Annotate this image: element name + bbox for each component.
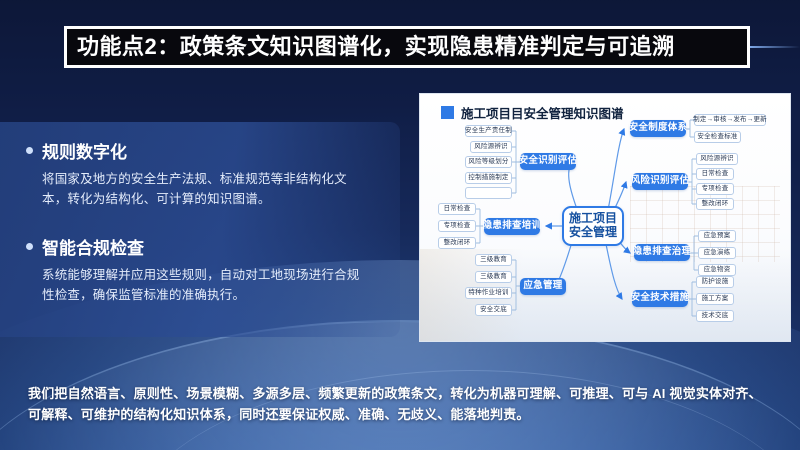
- graph-leaf[interactable]: 整改闭环: [696, 198, 734, 210]
- graph-leaf[interactable]: 专项检查: [438, 220, 476, 232]
- graph-branch-safety-system[interactable]: 安全制度体系: [630, 120, 686, 137]
- graph-leaf[interactable]: 风险源辨识: [696, 153, 738, 165]
- graph-leaf[interactable]: 技术交底: [696, 310, 734, 322]
- diagram-title-text: 施工项目目安全管理知识图谱: [461, 103, 624, 122]
- slide-root: 功能点2：政策条文知识图谱化，实现隐患精准判定与可追溯 规则数字化 将国家及地方…: [0, 0, 800, 450]
- feature-heading-row: 规则数字化: [26, 138, 372, 163]
- graph-leaf[interactable]: 风险等级划分: [465, 156, 512, 168]
- bullet-dot-icon: [26, 147, 33, 154]
- graph-leaf[interactable]: 应急物资: [698, 264, 736, 276]
- summary-text: 我们把自然语言、原则性、场景模糊、多源多层、频繁更新的政策条文，转化为机器可理解…: [28, 383, 772, 426]
- graph-leaf[interactable]: 防护设施: [696, 276, 734, 288]
- graph-leaf[interactable]: 施工方案: [696, 293, 734, 305]
- graph-leaf[interactable]: 三级教育: [475, 254, 512, 266]
- graph-branch-hazard-governance[interactable]: 隐患排查治理: [634, 244, 690, 261]
- graph-leaf[interactable]: 安全生产责任制: [465, 125, 512, 137]
- left-content-panel: 规则数字化 将国家及地方的安全生产法规、标准规范等非结构化文本，转化为结构化、可…: [0, 122, 400, 337]
- graph-branch-hazard-training[interactable]: 隐患排查培训: [484, 218, 540, 235]
- graph-leaf[interactable]: 应急演练: [698, 247, 736, 259]
- graph-leaf[interactable]: 制定→审核→发布→更新: [694, 114, 766, 126]
- graph-branch-emergency-management[interactable]: 应急管理: [520, 278, 566, 295]
- slide-title-box: 功能点2：政策条文知识图谱化，实现隐患精准判定与可追溯: [64, 26, 750, 68]
- feature-heading-text: 规则数字化: [42, 138, 127, 163]
- graph-leaf[interactable]: 安全检查标准: [694, 131, 741, 143]
- graph-leaf[interactable]: 日常检查: [438, 203, 476, 215]
- graph-leaf[interactable]: 整改闭环: [438, 237, 476, 249]
- graph-leaf[interactable]: 日常检查: [696, 168, 734, 180]
- graph-branch-safety-assessment[interactable]: 安全识别评估: [520, 153, 576, 170]
- graph-leaf[interactable]: 特种作业培训: [465, 287, 512, 299]
- feature-heading-row: 智能合规检查: [26, 234, 372, 259]
- graph-leaf[interactable]: 风险源辨识: [470, 141, 512, 153]
- feature-heading-text: 智能合规检查: [42, 234, 144, 259]
- feature-block-rule-digitization: 规则数字化 将国家及地方的安全生产法规、标准规范等非结构化文本，转化为结构化、可…: [26, 138, 372, 210]
- graph-center-node[interactable]: 施工项目 安全管理: [562, 206, 624, 246]
- graph-center-line1: 施工项目: [569, 212, 617, 226]
- title-accent-rule: [750, 46, 800, 48]
- graph-leaf[interactable]: 专项检查: [696, 183, 734, 195]
- page-title: 功能点2：政策条文知识图谱化，实现隐患精准判定与可追溯: [67, 36, 675, 58]
- feature-body-text: 将国家及地方的安全生产法规、标准规范等非结构化文本，转化为结构化、可计算的知识图…: [42, 169, 372, 210]
- graph-center-line2: 安全管理: [569, 226, 617, 240]
- diagram-title-accent-icon: [441, 106, 454, 119]
- graph-leaf[interactable]: 控制措施制定: [465, 172, 512, 184]
- diagram-title-row: 施工项目目安全管理知识图谱: [441, 103, 624, 122]
- knowledge-graph-card: 施工项目目安全管理知识图谱: [419, 93, 791, 342]
- graph-leaf-spacer: [465, 187, 512, 199]
- graph-branch-risk-assessment[interactable]: 风险识别评估: [632, 173, 688, 190]
- graph-leaf[interactable]: 三级教育: [475, 271, 512, 283]
- graph-leaf[interactable]: 安全交底: [475, 304, 512, 316]
- bullet-dot-icon: [26, 243, 33, 250]
- graph-leaf[interactable]: 应急预案: [698, 230, 736, 242]
- feature-block-compliance-check: 智能合规检查 系统能够理解并应用这些规则，自动对工地现场进行合规性检查，确保监管…: [26, 234, 372, 306]
- feature-body-text: 系统能够理解并应用这些规则，自动对工地现场进行合规性检查，确保监管标准的准确执行…: [42, 265, 372, 306]
- graph-branch-technical-measures[interactable]: 安全技术措施: [632, 290, 688, 307]
